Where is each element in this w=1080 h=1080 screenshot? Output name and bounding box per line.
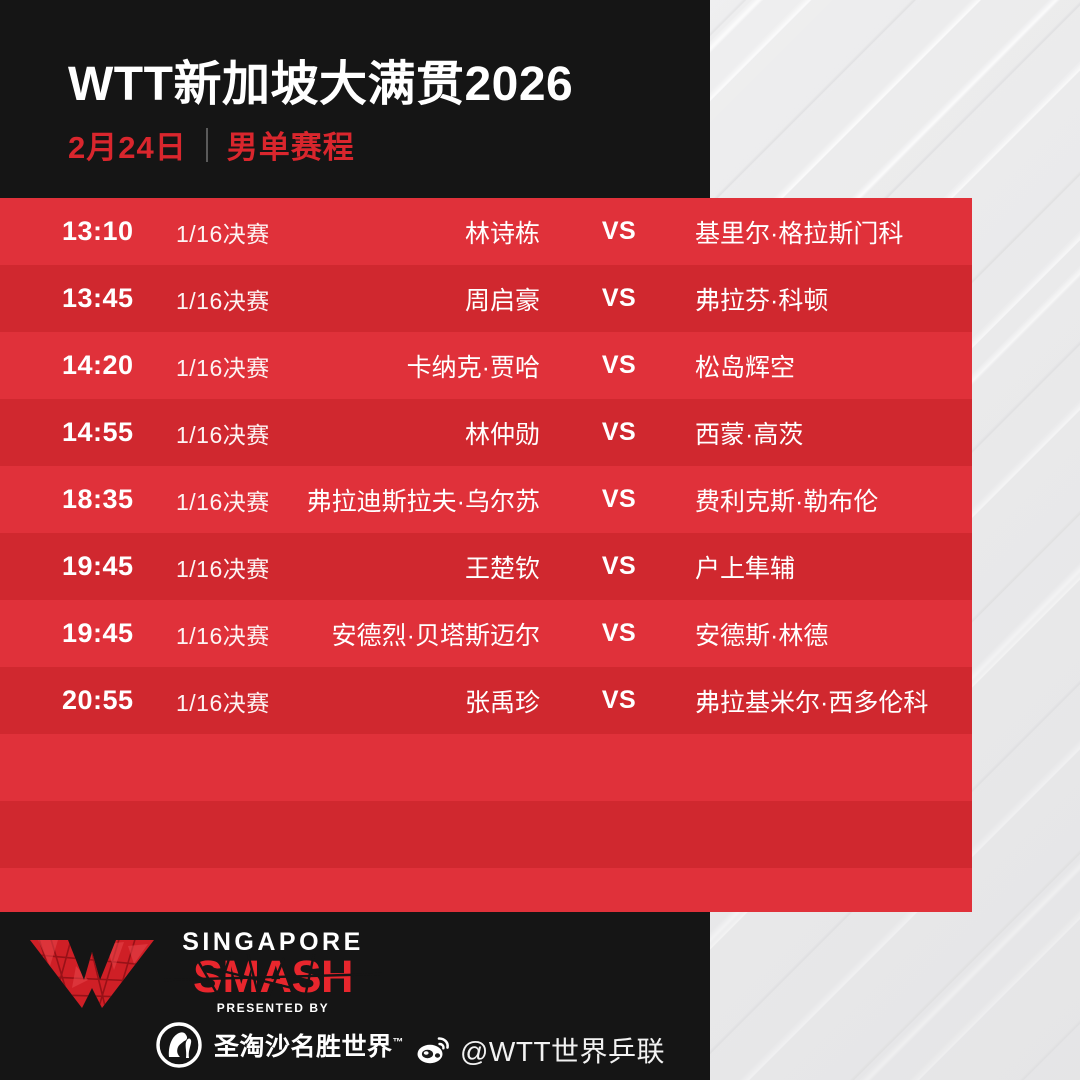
singapore-smash-logo: SINGAPORE SMASH (24, 924, 384, 1020)
match-round: 1/16决赛 (176, 483, 270, 517)
match-round: 1/16决赛 (176, 617, 270, 651)
resorts-world-sentosa-icon (156, 1022, 202, 1068)
player-two-name: 松岛辉空 (695, 348, 970, 384)
match-round: 1/16决赛 (176, 684, 270, 718)
event-category: 男单赛程 (227, 122, 355, 167)
versus-label: VS (590, 686, 648, 715)
match-time: 14:20 (62, 350, 172, 381)
match-round: 1/16决赛 (176, 550, 270, 584)
versus-label: VS (590, 485, 648, 514)
versus-label: VS (590, 619, 648, 648)
match-round: 1/16决赛 (176, 349, 270, 383)
table-row[interactable]: 13:101/16决赛林诗栋VS基里尔·格拉斯门科 (0, 198, 972, 265)
presented-by-label: PRESENTED BY (164, 1001, 382, 1015)
player-two-name: 西蒙·高茨 (695, 415, 970, 451)
match-round: 1/16决赛 (176, 215, 270, 249)
player-one-name: 安德烈·贝塔斯迈尔 (290, 616, 540, 652)
player-two-name: 户上隼辅 (695, 549, 970, 585)
smash-text: SMASH (193, 951, 353, 1002)
schedule-poster: WTT新加坡大满贯2026 2月24日 男单赛程 13:101/16决赛林诗栋V… (0, 0, 1080, 1080)
match-time: 19:45 (62, 618, 172, 649)
match-time: 18:35 (62, 484, 172, 515)
versus-label: VS (590, 552, 648, 581)
social-handle-block[interactable]: @WTT世界乒联 (417, 1030, 665, 1070)
player-two-name: 弗拉芬·科顿 (695, 281, 970, 317)
table-row[interactable]: 20:551/16决赛张禹珍VS弗拉基米尔·西多伦科 (0, 667, 972, 734)
table-row[interactable]: 13:451/16决赛周启豪VS弗拉芬·科顿 (0, 265, 972, 332)
player-two-name: 安德斯·林德 (695, 616, 970, 652)
schedule-panel: 13:101/16决赛林诗栋VS基里尔·格拉斯门科13:451/16决赛周启豪V… (0, 198, 972, 912)
player-two-name: 基里尔·格拉斯门科 (695, 214, 970, 250)
match-time: 20:55 (62, 685, 172, 716)
versus-label: VS (590, 418, 648, 447)
match-time: 13:45 (62, 283, 172, 314)
table-row[interactable]: 14:551/16决赛林仲勋VS西蒙·高茨 (0, 399, 972, 466)
player-one-name: 卡纳克·贾哈 (290, 348, 540, 384)
table-row[interactable]: 18:351/16决赛弗拉迪斯拉夫·乌尔苏VS费利克斯·勒布伦 (0, 466, 972, 533)
match-round: 1/16决赛 (176, 282, 270, 316)
versus-label: VS (590, 284, 648, 313)
subtitle-divider (206, 128, 208, 162)
player-one-name: 林仲勋 (290, 415, 540, 451)
match-time: 13:10 (62, 216, 172, 247)
sponsor-name: 圣淘沙名胜世界™ (214, 1027, 404, 1063)
trademark-mark: ™ (393, 1037, 405, 1049)
player-two-name: 费利克斯·勒布伦 (695, 482, 970, 518)
wtt-w-logo-icon (28, 936, 158, 1010)
smash-label: SMASH (164, 954, 382, 1000)
player-one-name: 林诗栋 (290, 214, 540, 250)
event-date: 2月24日 (68, 122, 187, 167)
weibo-icon[interactable] (417, 1036, 451, 1064)
table-row[interactable]: 19:451/16决赛安德烈·贝塔斯迈尔VS安德斯·林德 (0, 600, 972, 667)
stripe-band (0, 801, 972, 868)
player-one-name: 王楚钦 (290, 549, 540, 585)
social-handle-text[interactable]: @WTT世界乒联 (460, 1030, 665, 1070)
player-one-name: 张禹珍 (290, 683, 540, 719)
stripe-band (0, 868, 972, 912)
table-row[interactable]: 14:201/16决赛卡纳克·贾哈VS松岛辉空 (0, 332, 972, 399)
sponsor-block: 圣淘沙名胜世界™ (156, 1022, 404, 1068)
versus-label: VS (590, 217, 648, 246)
sponsor-name-text: 圣淘沙名胜世界 (214, 1033, 393, 1061)
match-round: 1/16决赛 (176, 416, 270, 450)
table-row[interactable]: 19:451/16决赛王楚钦VS户上隼辅 (0, 533, 972, 600)
match-time: 14:55 (62, 417, 172, 448)
match-time: 19:45 (62, 551, 172, 582)
header-subtitle: 2月24日 男单赛程 (68, 122, 355, 167)
header-panel: WTT新加坡大满贯2026 2月24日 男单赛程 (0, 0, 710, 198)
page-title: WTT新加坡大满贯2026 (68, 44, 573, 114)
player-one-name: 弗拉迪斯拉夫·乌尔苏 (290, 482, 540, 518)
player-one-name: 周启豪 (290, 281, 540, 317)
versus-label: VS (590, 351, 648, 380)
smash-wordmark: SINGAPORE SMASH (164, 930, 382, 1015)
stripe-band (0, 734, 972, 801)
player-two-name: 弗拉基米尔·西多伦科 (695, 683, 970, 719)
